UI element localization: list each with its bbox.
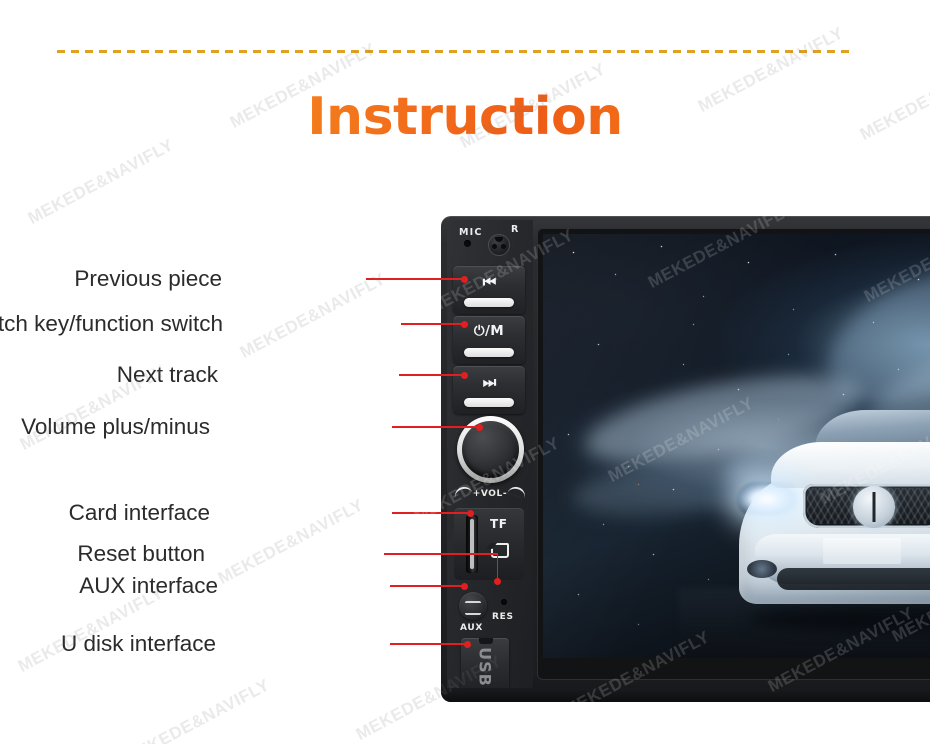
brand-watermark: MEKEDE&NAVIFLY — [25, 135, 177, 229]
aux-jack[interactable] — [459, 592, 487, 620]
car-foglight-left — [747, 560, 777, 578]
leader-line-reset-button-drop — [497, 553, 499, 581]
starfield — [543, 234, 544, 235]
leader-line-reset-button — [384, 553, 498, 555]
microphone-hole — [464, 240, 471, 247]
button-highlight-strip — [464, 398, 514, 407]
usb-port-notch — [479, 638, 493, 644]
callout-label-next-track: Next track — [117, 362, 218, 388]
instruction-page: Instruction Previous piece Switch key/fu… — [0, 0, 930, 744]
leader-line-card-interface — [392, 512, 469, 514]
leader-line-u-disk-interface — [390, 643, 466, 645]
tf-card-opening-inner — [470, 519, 474, 569]
dashed-divider — [57, 50, 850, 53]
leader-dot-next-track — [461, 372, 468, 379]
device-bottom-bevel — [441, 688, 930, 702]
leader-line-switch-key — [401, 323, 463, 325]
callout-label-reset-button: Reset button — [77, 541, 205, 567]
leader-dot-volume — [476, 424, 483, 431]
leader-line-aux-interface — [390, 585, 463, 587]
brand-watermark: MEKEDE&NAVIFLY — [121, 675, 273, 744]
volume-markings: +VOL- — [451, 486, 529, 502]
callout-label-u-disk-interface: U disk interface — [61, 631, 216, 657]
callout-label-previous-piece: Previous piece — [74, 266, 222, 292]
car-illustration — [719, 438, 930, 658]
page-title: Instruction — [0, 86, 930, 148]
callout-label-aux-interface: AUX interface — [79, 573, 218, 599]
tf-label: TF — [490, 517, 508, 531]
leader-dot-card-interface — [467, 510, 474, 517]
screen-bezel — [537, 228, 930, 680]
volume-knob-face[interactable] — [462, 421, 519, 478]
callout-label-card-interface: Card interface — [69, 500, 210, 526]
car-badge — [853, 486, 895, 528]
leader-dot-previous-piece — [461, 276, 468, 283]
reset-label: RES — [492, 612, 514, 622]
car-license-plate — [823, 538, 901, 564]
leader-line-volume — [392, 426, 478, 428]
brand-watermark: MEKEDE&NAVIFLY — [237, 269, 389, 363]
leader-dot-u-disk-interface — [464, 641, 471, 648]
nebula-wisp — [809, 235, 930, 432]
leader-line-next-track — [399, 374, 463, 376]
tf-card-slot[interactable]: TF — [454, 508, 524, 580]
reset-pinhole[interactable] — [501, 599, 507, 605]
previous-track-button[interactable]: ⏮ — [453, 266, 525, 314]
leader-dot-reset-button — [494, 578, 501, 585]
leader-line-previous-piece — [366, 278, 463, 280]
mic-label: MIC — [459, 227, 483, 238]
brand-watermark: MEKEDE&NAVIFLY — [215, 495, 367, 589]
memory-card-icon — [491, 543, 509, 558]
volume-label: +VOL- — [451, 489, 529, 499]
leader-dot-aux-interface — [461, 583, 468, 590]
device-screen[interactable] — [543, 234, 930, 658]
button-highlight-strip — [464, 298, 514, 307]
leader-dot-switch-key — [461, 321, 468, 328]
car-air-dam — [777, 568, 930, 590]
aux-label: AUX — [460, 623, 483, 633]
device-control-panel: MIC R ⏮ ⏻/M ⏭ — [447, 220, 533, 698]
callout-label-switch-key: Switch key/function switch — [0, 311, 223, 337]
usb-label: USB — [476, 647, 495, 687]
car-headlight-left — [737, 482, 797, 516]
ir-receiver-label: R — [511, 224, 520, 235]
button-highlight-strip — [464, 348, 514, 357]
car-stereo-device: MIC R ⏮ ⏻/M ⏭ — [441, 216, 930, 702]
callout-label-volume: Volume plus/minus — [21, 414, 210, 440]
car-hood — [771, 442, 930, 488]
tf-card-opening[interactable] — [466, 515, 478, 573]
